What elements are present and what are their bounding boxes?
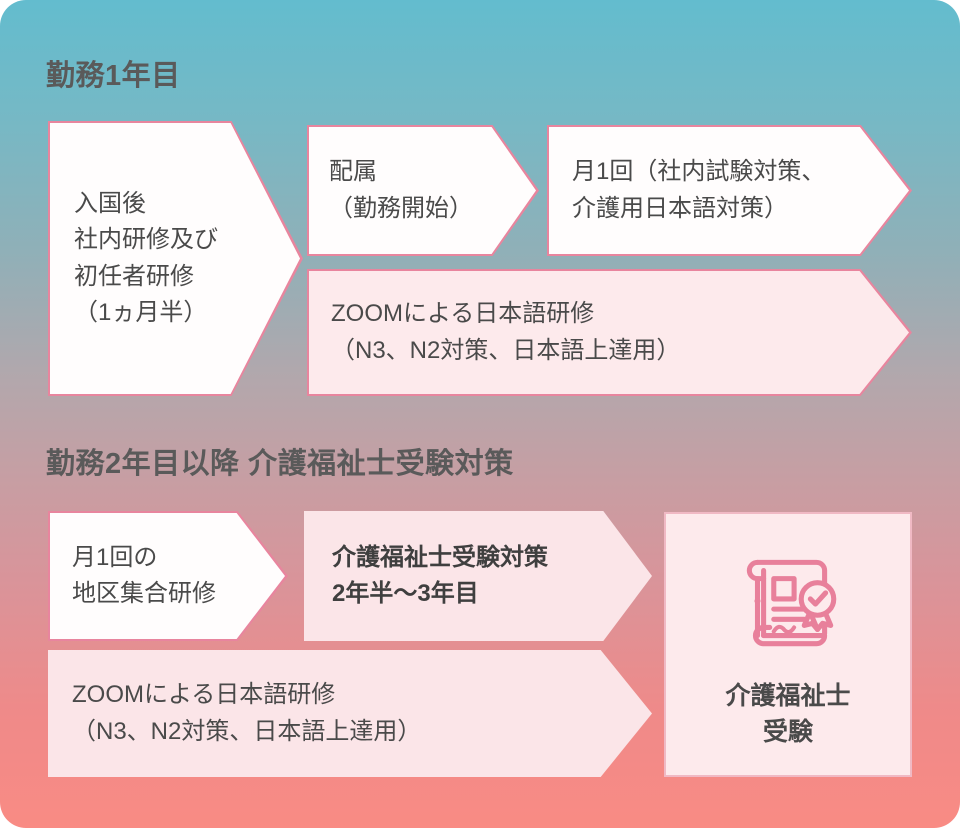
step-onboarding: 入国後 社内研修及び 初任者研修 （1ヵ月半） [48,121,303,396]
certificate-scroll-icon [727,540,849,662]
step-onboarding-content: 入国後 社内研修及び 初任者研修 （1ヵ月半） [48,121,303,396]
step-zoom-training-year2-text: ZOOMによる日本語研修 （N3、N2対策、日本語上達用） [72,677,582,750]
step-zoom-training-year1-content: ZOOMによる日本語研修 （N3、N2対策、日本語上達用） [307,269,912,396]
infographic-canvas: 勤務1年目 入国後 社内研修及び 初任者研修 （1ヵ月半） 配属 （勤務開始） … [0,0,960,828]
step-assignment: 配属 （勤務開始） [307,125,539,256]
step-assignment-content: 配属 （勤務開始） [307,125,539,256]
goal-panel-certification: 介護福祉士 受験 [664,512,912,777]
section-heading-year1: 勤務1年目 [46,52,181,94]
step-zoom-training-year2-content: ZOOMによる日本語研修 （N3、N2対策、日本語上達用） [48,650,652,777]
step-exam-prep: 介護福祉士受験対策 2年半～3年目 [304,511,652,641]
step-exam-prep-content: 介護福祉士受験対策 2年半～3年目 [304,511,652,641]
step-monthly-training-content: 月1回（社内試験対策、 介護用日本語対策） [547,125,912,256]
step-exam-prep-text: 介護福祉士受験対策 2年半～3年目 [332,540,596,613]
step-district-training: 月1回の 地区集合研修 [48,511,288,641]
step-zoom-training-year2: ZOOMによる日本語研修 （N3、N2対策、日本語上達用） [48,650,652,777]
step-district-training-text: 月1回の 地区集合研修 [72,540,236,613]
step-onboarding-text: 入国後 社内研修及び 初任者研修 （1ヵ月半） [74,186,233,332]
step-zoom-training-year1-text: ZOOMによる日本語研修 （N3、N2対策、日本語上達用） [331,296,842,369]
section-heading-year2: 勤務2年目以降 介護福祉士受験対策 [46,440,514,482]
step-monthly-training-text: 月1回（社内試験対策、 介護用日本語対策） [572,154,857,227]
step-district-training-content: 月1回の 地区集合研修 [48,511,288,641]
goal-label-certification: 介護福祉士 受験 [725,678,850,751]
step-assignment-text: 配属 （勤務開始） [329,154,487,227]
step-zoom-training-year1: ZOOMによる日本語研修 （N3、N2対策、日本語上達用） [307,269,912,396]
step-monthly-training: 月1回（社内試験対策、 介護用日本語対策） [547,125,912,256]
